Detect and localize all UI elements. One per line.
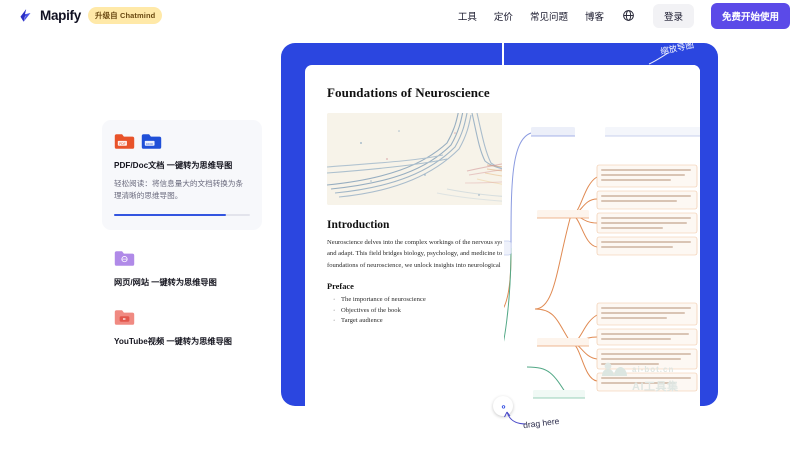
- bolt-icon: [18, 8, 33, 23]
- watermark-logo-icon: [601, 361, 627, 377]
- feature-title: YouTube视频 一键转为思维导图: [114, 336, 250, 348]
- feature-title: PDF/Doc文档 一键转为思维导图: [114, 160, 250, 172]
- feature-card-document[interactable]: PDF DOC PDF/Doc文档 一键转为思维导图 轻松阅读：将信息量大的文档…: [102, 120, 262, 230]
- watermark: ai-bot.cn AI工具集: [601, 361, 700, 394]
- feature-list: PDF DOC PDF/Doc文档 一键转为思维导图 轻松阅读：将信息量大的文档…: [102, 120, 262, 358]
- main-nav: 工具 定价 常见问题 博客 登录 免费开始使用: [458, 3, 790, 29]
- upgrade-badge: 升级自 Chatmind: [88, 7, 162, 24]
- pdf-file-icon: PDF: [114, 133, 135, 150]
- site-header: Mapify 升级自 Chatmind 工具 定价 常见问题 博客 登录 免费开…: [0, 0, 800, 31]
- showcase-frame: Foundations of Neuroscience: [281, 43, 718, 406]
- svg-text:PDF: PDF: [119, 142, 126, 146]
- feature-card-youtube[interactable]: YouTube视频 一键转为思维导图: [102, 299, 262, 352]
- login-button[interactable]: 登录: [653, 4, 694, 28]
- feature-icons: PDF DOC: [114, 133, 250, 150]
- drag-annotation-label: drag here: [523, 416, 560, 430]
- feature-icons: [114, 309, 250, 326]
- watermark-brand: AI工具集: [632, 378, 679, 394]
- nav-item-faq[interactable]: 常见问题: [530, 9, 568, 23]
- globe-icon[interactable]: [621, 8, 636, 23]
- feature-title: 网页/网站 一键转为思维导图: [114, 277, 250, 289]
- brand-name: Mapify: [40, 8, 81, 23]
- comparison-slider-track[interactable]: [502, 43, 504, 406]
- nav-item-pricing[interactable]: 定价: [494, 9, 513, 23]
- youtube-video-icon: [114, 309, 135, 326]
- web-page-icon: [114, 250, 135, 267]
- feature-description: 轻松阅读：将信息量大的文档转换为条理清晰的思维导图。: [114, 178, 250, 203]
- feature-card-webpage[interactable]: 网页/网站 一键转为思维导图: [102, 240, 262, 293]
- doc-file-icon: DOC: [141, 133, 162, 150]
- watermark-domain: ai-bot.cn: [632, 365, 674, 374]
- nav-item-tools[interactable]: 工具: [458, 9, 477, 23]
- feature-icons: [114, 250, 250, 267]
- nav-item-blog[interactable]: 博客: [585, 9, 604, 23]
- svg-text:DOC: DOC: [146, 142, 154, 146]
- feature-progress-fill: [114, 214, 226, 216]
- landing-page: Mapify 升级自 Chatmind 工具 定价 常见问题 博客 登录 免费开…: [0, 0, 800, 450]
- start-free-button[interactable]: 免费开始使用: [711, 3, 790, 29]
- brand-area[interactable]: Mapify 升级自 Chatmind: [18, 7, 162, 24]
- feature-progress-bar: [114, 214, 250, 216]
